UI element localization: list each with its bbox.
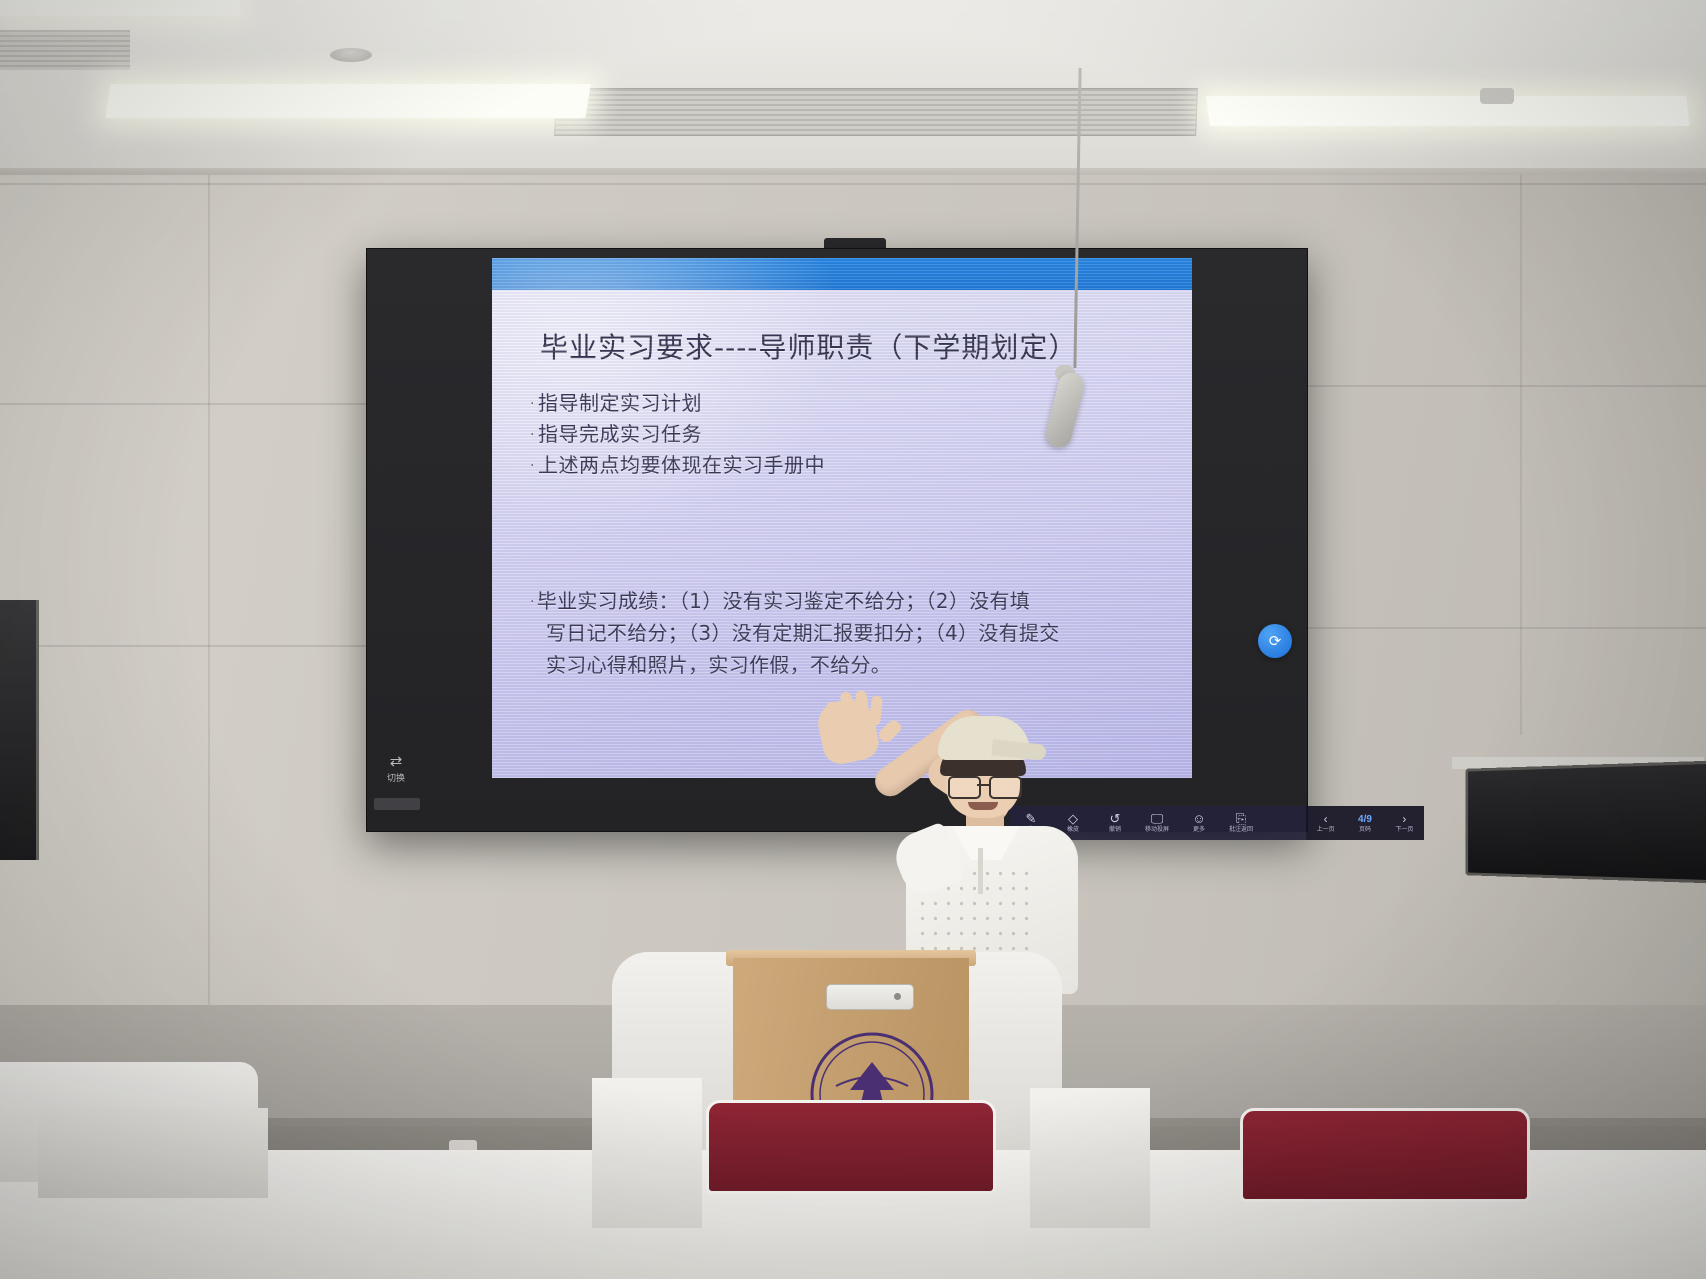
prev-page-label: 上一页 <box>1306 826 1345 834</box>
bullet-text: 指导完成实习任务 <box>538 422 702 446</box>
ceiling-light <box>105 84 590 118</box>
ceiling-light <box>1206 96 1690 126</box>
annotate-back-icon: ⎘ <box>1220 812 1262 826</box>
more-icon: ☺ <box>1178 812 1220 826</box>
display-brand-logo <box>374 798 420 810</box>
presenter <box>806 680 1106 980</box>
source-switch-button[interactable]: ⇄ 切换 <box>381 752 411 784</box>
toolbar-item-more[interactable]: ☺ 更多 <box>1178 812 1220 834</box>
ceiling-light <box>0 0 240 16</box>
toolbar-label: 移动投屏 <box>1136 826 1178 834</box>
glasses-icon <box>948 776 1020 796</box>
air-vent-icon <box>554 88 1198 136</box>
podium-indicator-light <box>894 993 901 1000</box>
bullet-text: 上述两点均要体现在实习手册中 <box>538 453 825 477</box>
toolbar-label: 批注返回 <box>1220 826 1262 834</box>
chevron-right-icon: › <box>1385 813 1424 826</box>
floating-assistant-button[interactable]: ⟳ <box>1258 624 1292 658</box>
slide-paragraph: ·毕业实习成绩：（1）没有实习鉴定不给分；（2）没有填 写日记不给分；（3）没有… <box>530 585 1180 681</box>
slide-navigation[interactable]: ‹ 上一页 4/9 页码 › 下一页 <box>1306 806 1424 840</box>
prev-page-button[interactable]: ‹ 上一页 <box>1306 813 1345 834</box>
bullet-dot-icon: · <box>530 396 535 412</box>
toolbar-item-annotate-back[interactable]: ⎘ 批注返回 <box>1220 812 1262 834</box>
chevron-left-icon: ‹ <box>1306 813 1345 826</box>
air-vent-secondary-icon <box>0 30 130 70</box>
ceiling-camera-icon <box>1480 88 1514 104</box>
paragraph-line-1: 毕业实习成绩：（1）没有实习鉴定不给分；（2）没有填 <box>537 589 1030 613</box>
switch-source-icon: ⇄ <box>381 752 411 772</box>
cast-icon: 🖵 <box>1136 812 1178 826</box>
toolbar-item-cast[interactable]: 🖵 移动投屏 <box>1136 812 1178 834</box>
auditorium-seat <box>1240 1108 1530 1202</box>
wall-monitor <box>1466 761 1706 884</box>
next-page-label: 下一页 <box>1385 826 1424 834</box>
list-item: ·上述两点均要体现在实习手册中 <box>530 450 1170 481</box>
slide-title: 毕业实习要求----导师职责（下学期划定） <box>540 326 1180 366</box>
bullet-dot-icon: · <box>530 594 535 610</box>
paragraph-line-3: 实习心得和照片，实习作假，不给分。 <box>530 649 1180 681</box>
raised-hand <box>814 695 882 767</box>
auditorium-seat <box>706 1100 996 1194</box>
auditorium-desk <box>1030 1088 1150 1228</box>
wall-panel-left <box>0 600 39 860</box>
classroom-photo: ⇄ 切换 毕业实习要求----导师职责（下学期划定） ·指导制定实习计划 ·指导… <box>0 0 1706 1279</box>
assistant-icon: ⟳ <box>1269 632 1282 650</box>
smoke-detector-icon <box>330 48 372 62</box>
shirt-placket <box>978 848 983 894</box>
auditorium-desk <box>38 1108 268 1198</box>
page-label: 页码 <box>1345 826 1384 834</box>
auditorium-desk <box>592 1078 702 1228</box>
source-switch-label: 切换 <box>387 773 405 783</box>
bullet-dot-icon: · <box>530 427 535 443</box>
next-page-button[interactable]: › 下一页 <box>1385 813 1424 834</box>
page-indicator[interactable]: 4/9 页码 <box>1345 813 1384 834</box>
paragraph-line-2: 写日记不给分；（3）没有定期汇报要扣分；（4）没有提交 <box>530 617 1180 649</box>
toolbar-label: 更多 <box>1178 826 1220 834</box>
page-counter: 4/9 <box>1345 813 1384 826</box>
bullet-text: 指导制定实习计划 <box>538 391 702 415</box>
mouth <box>968 802 998 810</box>
bullet-dot-icon: · <box>530 458 535 474</box>
